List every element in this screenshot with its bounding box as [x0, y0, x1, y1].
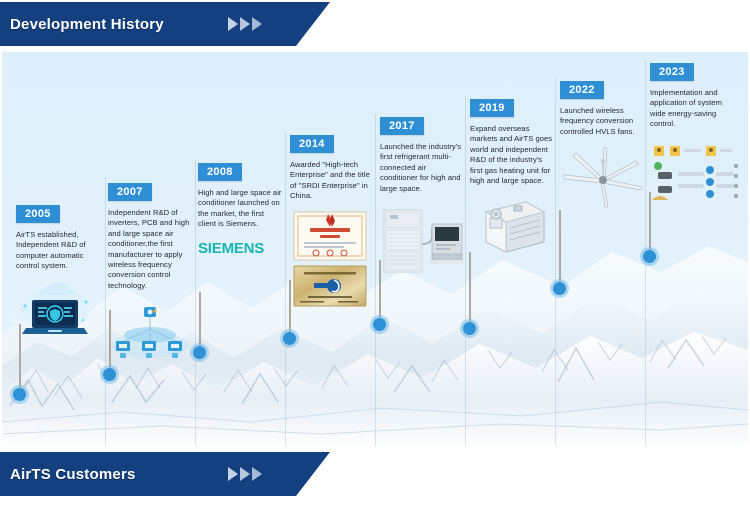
milestone-card-2008[interactable]: 2008 High and large space air conditione… — [198, 162, 284, 257]
certificate-and-plaque-illustration — [290, 210, 376, 308]
section-header-development-history: Development History — [0, 2, 296, 46]
milestone-description: Expand overseas markets and AirTS goes w… — [470, 124, 556, 186]
milestone-description: Independent R&D of inverters, PCB and hi… — [108, 208, 194, 291]
milestone-card-2022[interactable]: 2022 Launched wireless frequency convers… — [560, 80, 646, 209]
timeline-dot — [463, 322, 476, 335]
cloud-network-illustration — [108, 299, 194, 361]
timeline-dot — [553, 282, 566, 295]
year-badge: 2007 — [108, 183, 152, 201]
timeline-dot — [373, 318, 386, 331]
year-badge: 2017 — [380, 117, 424, 135]
milestone-card-2014[interactable]: 2014 Awarded "High-tech Enterprise" and … — [290, 134, 376, 308]
timeline-stem — [559, 210, 561, 290]
year-badge: 2005 — [16, 205, 60, 223]
milestone-description: High and large space air conditioner lau… — [198, 188, 284, 230]
section-title: AirTS Customers — [0, 466, 136, 483]
timeline-dot — [103, 368, 116, 381]
milestone-description: Launched the industry's first refrigeran… — [380, 142, 466, 194]
timeline-stage: 2005 AirTS established, Independent R&D … — [2, 52, 748, 446]
page-root: Development History — [0, 0, 750, 508]
vrf-outdoor-unit-illustration — [380, 202, 466, 278]
ribbon-tail-shape — [296, 2, 330, 46]
milestone-card-2023[interactable]: 2023 Implementation and application of s… — [650, 62, 736, 212]
column-divider — [285, 132, 286, 446]
double-chevron-right-icon — [226, 15, 274, 33]
milestone-card-2019[interactable]: 2019 Expand overseas markets and AirTS g… — [470, 98, 556, 256]
column-divider — [105, 178, 106, 446]
column-divider — [195, 160, 196, 446]
timeline-stem — [469, 252, 471, 330]
milestone-card-2017[interactable]: 2017 Launched the industry's first refri… — [380, 116, 466, 278]
milestone-card-2005[interactable]: 2005 AirTS established, Independent R&D … — [16, 204, 102, 338]
timeline-stem — [199, 292, 201, 354]
milestone-description: Implementation and application of system… — [650, 88, 736, 130]
year-badge: 2019 — [470, 99, 514, 117]
year-badge: 2008 — [198, 163, 242, 181]
milestone-description: Awarded "High-tech Enterprise" and the t… — [290, 160, 376, 202]
laptop-shield-illustration — [16, 280, 102, 338]
year-badge: 2022 — [560, 81, 604, 99]
timeline-dot — [283, 332, 296, 345]
timeline-dot — [643, 250, 656, 263]
ribbon-tail-shape — [296, 452, 330, 496]
page-title: Development History — [0, 16, 164, 33]
energy-control-diagram-illustration — [650, 138, 736, 212]
siemens-logo: SIEMENS — [198, 240, 284, 257]
double-chevron-right-icon — [226, 465, 274, 483]
milestone-description: AirTS established, Independent R&D of co… — [16, 230, 102, 272]
section-header-airts-customers: AirTS Customers — [0, 452, 296, 496]
gas-heating-unit-illustration — [470, 194, 556, 256]
milestone-description: Launched wireless frequency conversion c… — [560, 106, 646, 137]
year-badge: 2014 — [290, 135, 334, 153]
year-badge: 2023 — [650, 63, 694, 81]
milestone-card-2007[interactable]: 2007 Independent R&D of inverters, PCB a… — [108, 182, 194, 361]
hvls-fan-illustration — [560, 145, 646, 209]
timeline-dot — [193, 346, 206, 359]
timeline-dot — [13, 388, 26, 401]
